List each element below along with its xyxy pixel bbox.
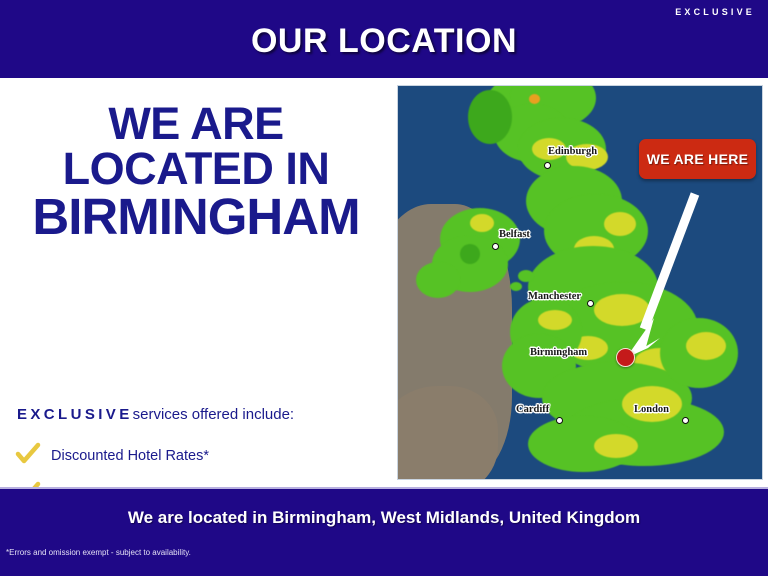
city-label-manchester: Manchester: [528, 291, 581, 302]
we-are-here-badge[interactable]: WE ARE HERE: [639, 139, 756, 179]
footer-divider: [0, 487, 768, 489]
city-dot-london: [682, 417, 689, 424]
footer-location-text: We are located in Birmingham, West Midla…: [0, 508, 768, 528]
check-icon: [15, 441, 41, 467]
city-label-edinburgh: Edinburgh: [548, 146, 597, 157]
city-label-birmingham: Birmingham: [530, 347, 587, 358]
services-heading: EXCLUSIVEservices offered include:: [17, 406, 294, 423]
page-header: EXCLUSIVE OUR LOCATION: [0, 0, 768, 78]
uk-map[interactable]: Edinburgh Belfast Manchester Birmingham …: [398, 86, 762, 479]
location-marker-birmingham[interactable]: [616, 348, 635, 367]
map-canvas: Edinburgh Belfast Manchester Birmingham …: [398, 86, 762, 479]
city-label-london: London: [634, 404, 669, 415]
we-are-here-label: WE ARE HERE: [647, 151, 749, 167]
headline-line-2: LOCATED IN: [0, 147, 392, 192]
headline-line-1: WE ARE: [0, 102, 392, 147]
services-heading-rest: services offered include:: [133, 406, 294, 423]
city-dot-cardiff: [556, 417, 563, 424]
list-item-label: Discounted Hotel Rates*: [41, 448, 209, 464]
brand-logo: EXCLUSIVE: [675, 7, 755, 17]
headline-block: WE ARE LOCATED IN BIRMINGHAM: [0, 102, 392, 243]
city-dot-edinburgh: [544, 162, 551, 169]
left-content-panel: WE ARE LOCATED IN BIRMINGHAM EXCLUSIVEse…: [0, 78, 398, 487]
city-dot-manchester: [587, 300, 594, 307]
footer-disclaimer: *Errors and omission exempt - subject to…: [6, 548, 191, 557]
content-stage: WE ARE LOCATED IN BIRMINGHAM EXCLUSIVEse…: [0, 78, 768, 487]
list-item: Discounted Hotel Rates*: [15, 436, 385, 475]
page-footer: We are located in Birmingham, West Midla…: [0, 487, 768, 576]
page-title: OUR LOCATION: [0, 22, 768, 61]
city-dot-belfast: [492, 243, 499, 250]
services-keyword: EXCLUSIVE: [17, 406, 133, 423]
city-label-cardiff: Cardiff: [516, 404, 549, 415]
headline-line-3: BIRMINGHAM: [0, 192, 392, 242]
city-label-belfast: Belfast: [499, 229, 530, 240]
